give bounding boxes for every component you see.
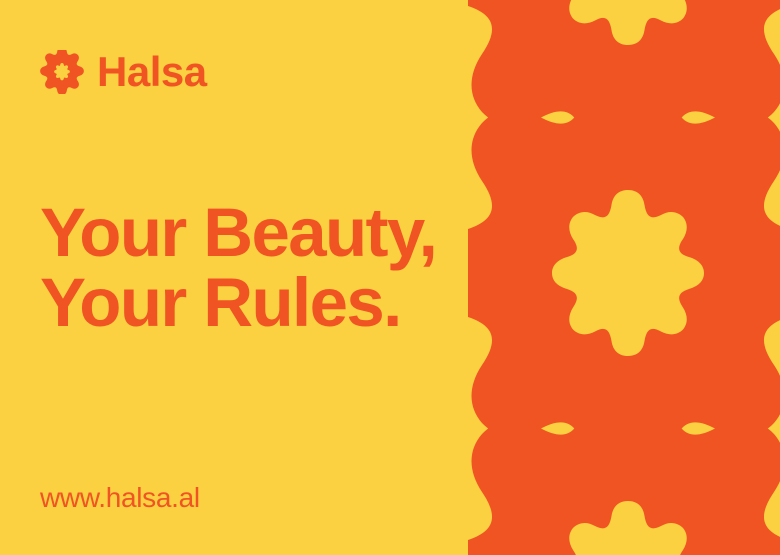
star-pattern-graphic: [468, 0, 780, 555]
star-flower-icon: [40, 50, 84, 94]
headline: Your Beauty, Your Rules.: [40, 198, 436, 338]
decorative-panel: [468, 0, 780, 555]
website-url[interactable]: www.halsa.al: [40, 484, 200, 512]
content-area: Halsa Your Beauty, Your Rules. www.halsa…: [0, 0, 468, 555]
brand-lockup[interactable]: Halsa: [40, 50, 207, 94]
star-shape-bottom: [468, 184, 780, 555]
brand-name: Halsa: [97, 51, 207, 93]
marketing-banner: Halsa Your Beauty, Your Rules. www.halsa…: [0, 0, 780, 555]
